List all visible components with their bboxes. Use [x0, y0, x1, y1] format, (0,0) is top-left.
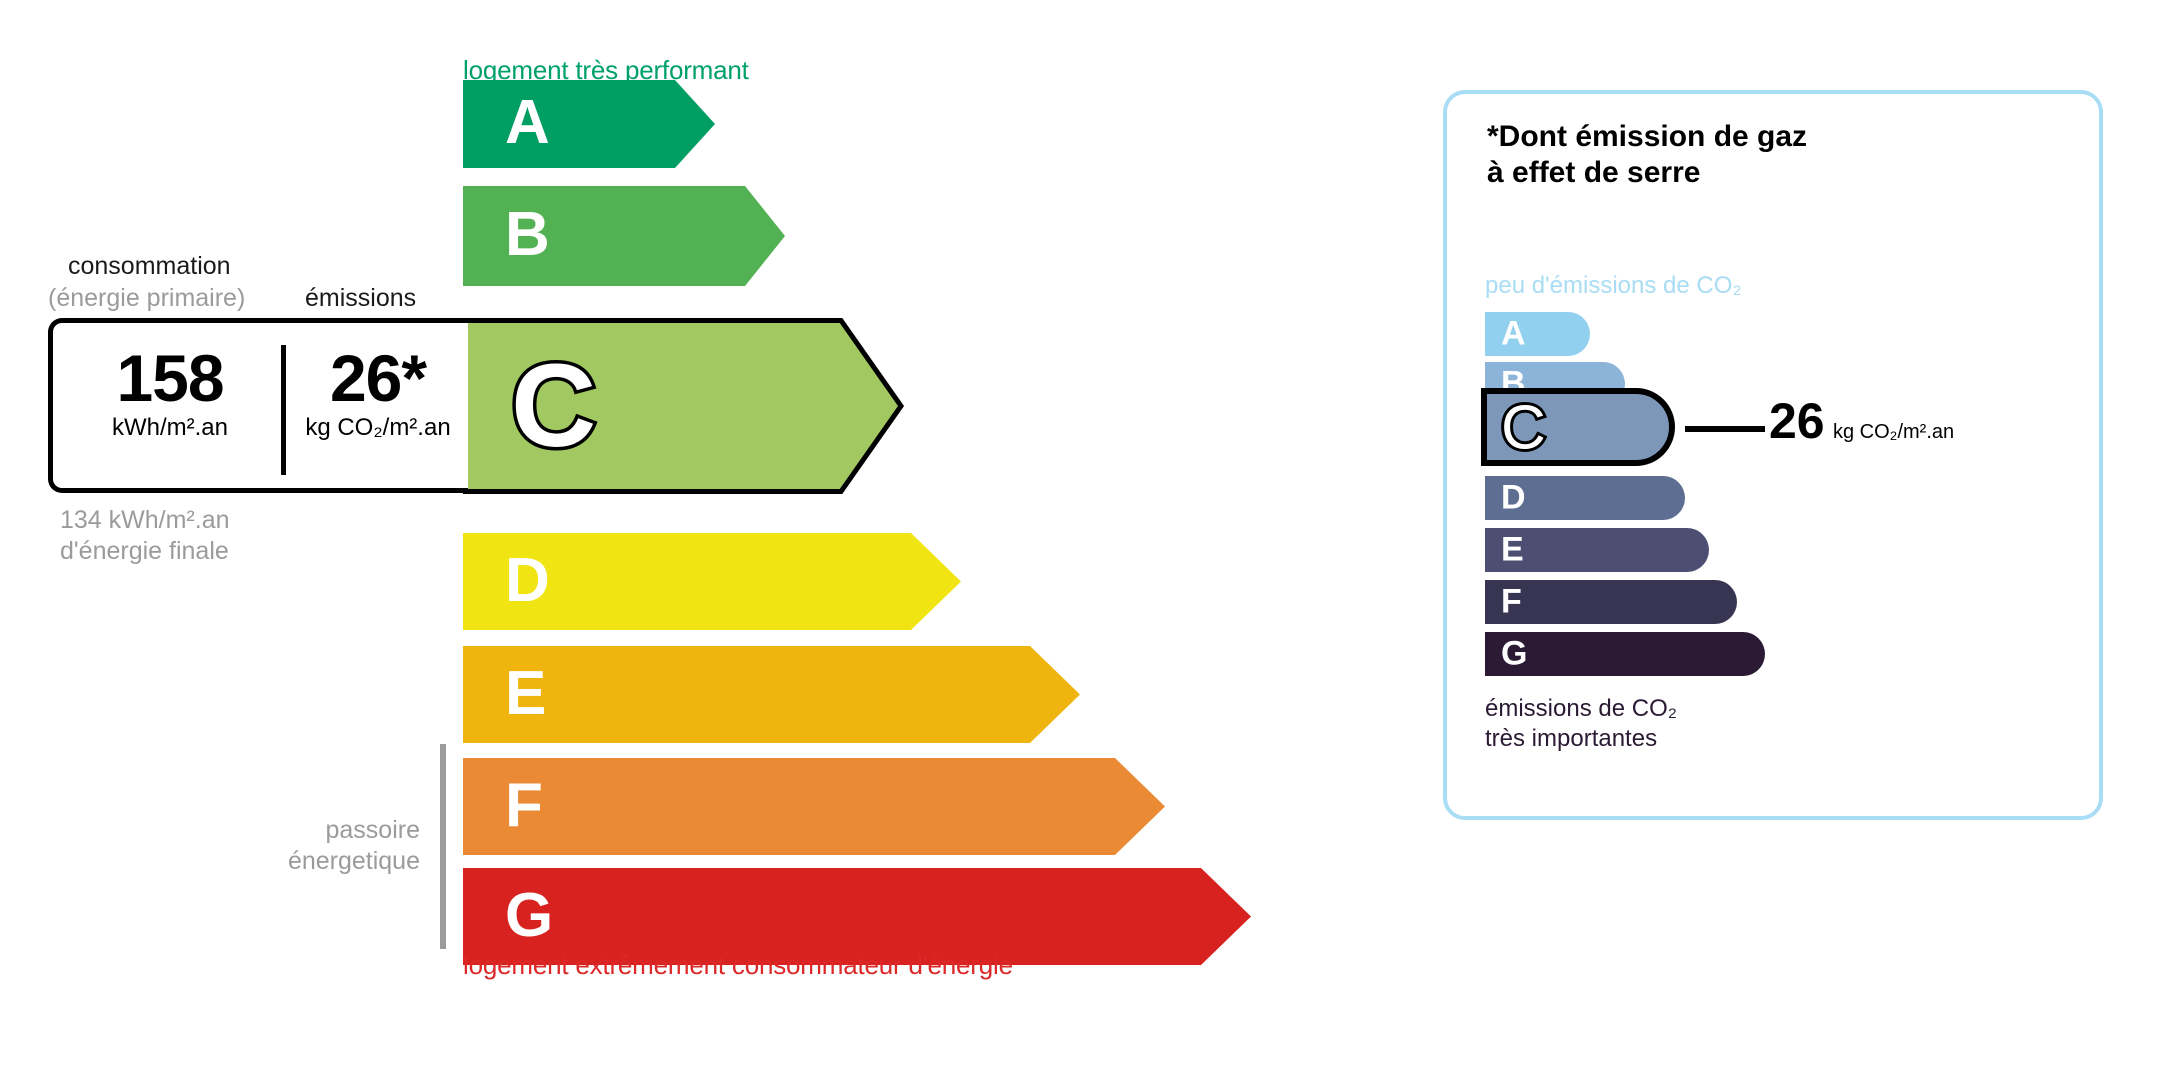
co2-title-line1: *Dont émission de gaz	[1487, 119, 1807, 155]
energy-performance-chart: logement très performant A B C	[0, 0, 1330, 1079]
value-box: 158 kWh/m².an 26* kg CO₂/m².an	[48, 318, 468, 493]
final-energy-line2: d'énergie finale	[60, 536, 230, 567]
passoire-line1: passoire	[180, 815, 420, 846]
co2-leader-line	[1685, 426, 1765, 432]
passoire-label: passoire énergetique	[180, 815, 420, 878]
final-energy-note: 134 kWh/m².an d'énergie finale	[60, 505, 230, 567]
co2-bottom-caption-line2: très importantes	[1485, 724, 1677, 754]
band-a-shape	[463, 80, 715, 168]
band-c-shape: C	[463, 318, 906, 494]
co2-bar-g: G	[1485, 632, 1765, 676]
co2-bar-e: E	[1485, 528, 1709, 572]
co2-bottom-caption-line1: émissions de CO₂	[1485, 694, 1677, 724]
co2-bar-f-letter: F	[1501, 584, 1522, 618]
consumption-value-cell: 158 kWh/m².an	[61, 345, 279, 442]
energy-band-f: F	[463, 758, 1165, 855]
co2-bar-a-letter: A	[1501, 316, 1526, 350]
energy-band-e: E	[463, 646, 1080, 743]
co2-value-unit: kg CO₂/m².an	[1833, 421, 1954, 444]
final-energy-line1: 134 kWh/m².an	[60, 505, 230, 536]
co2-bar-d-letter: D	[1501, 480, 1526, 514]
value-box-divider	[281, 345, 286, 475]
band-c-letter-glyph: C	[511, 340, 596, 472]
emissions-value: 26*	[289, 345, 467, 412]
co2-bar-c-shape: C	[1481, 388, 1677, 466]
dpe-label: logement très performant A B C	[0, 0, 2169, 1079]
co2-top-caption: peu d'émissions de CO₂	[1485, 272, 1742, 300]
band-e-shape	[463, 646, 1080, 743]
band-f-shape	[463, 758, 1165, 855]
energy-band-c-current: C	[463, 318, 906, 494]
consumption-header-label: consommation	[68, 252, 231, 281]
band-d-shape	[463, 533, 961, 630]
co2-bar-g-letter: G	[1501, 636, 1527, 670]
energy-band-d: D	[463, 533, 961, 630]
co2-bar-d: D	[1485, 476, 1685, 520]
co2-bottom-caption: émissions de CO₂ très importantes	[1485, 694, 1677, 754]
co2-bar-f: F	[1485, 580, 1737, 624]
energy-band-b: B	[463, 186, 785, 286]
emissions-unit: kg CO₂/m².an	[289, 414, 467, 442]
co2-bar-e-letter: E	[1501, 532, 1524, 566]
co2-bar-c-letter-glyph: C	[1501, 394, 1546, 463]
chart-bottom-caption: logement extrêmement consommateur d'éner…	[463, 950, 1013, 981]
energy-band-a: A	[463, 80, 715, 168]
emissions-value-cell: 26* kg CO₂/m².an	[289, 345, 467, 442]
band-b-shape	[463, 186, 785, 286]
co2-panel-title: *Dont émission de gaz à effet de serre	[1487, 119, 1807, 191]
co2-value: 26	[1769, 396, 1825, 446]
emissions-header-label: émissions	[305, 284, 416, 313]
consumption-unit: kWh/m².an	[61, 414, 279, 442]
passoire-bracket	[440, 744, 446, 949]
co2-bar-a: A	[1485, 312, 1590, 356]
co2-bar-c-current: C	[1481, 388, 1677, 466]
passoire-line2: énergetique	[180, 846, 420, 877]
consumption-header-sublabel: (énergie primaire)	[48, 284, 245, 313]
consumption-value: 158	[61, 345, 279, 412]
co2-title-line2: à effet de serre	[1487, 155, 1807, 191]
co2-panel: *Dont émission de gaz à effet de serre p…	[1443, 90, 2103, 820]
